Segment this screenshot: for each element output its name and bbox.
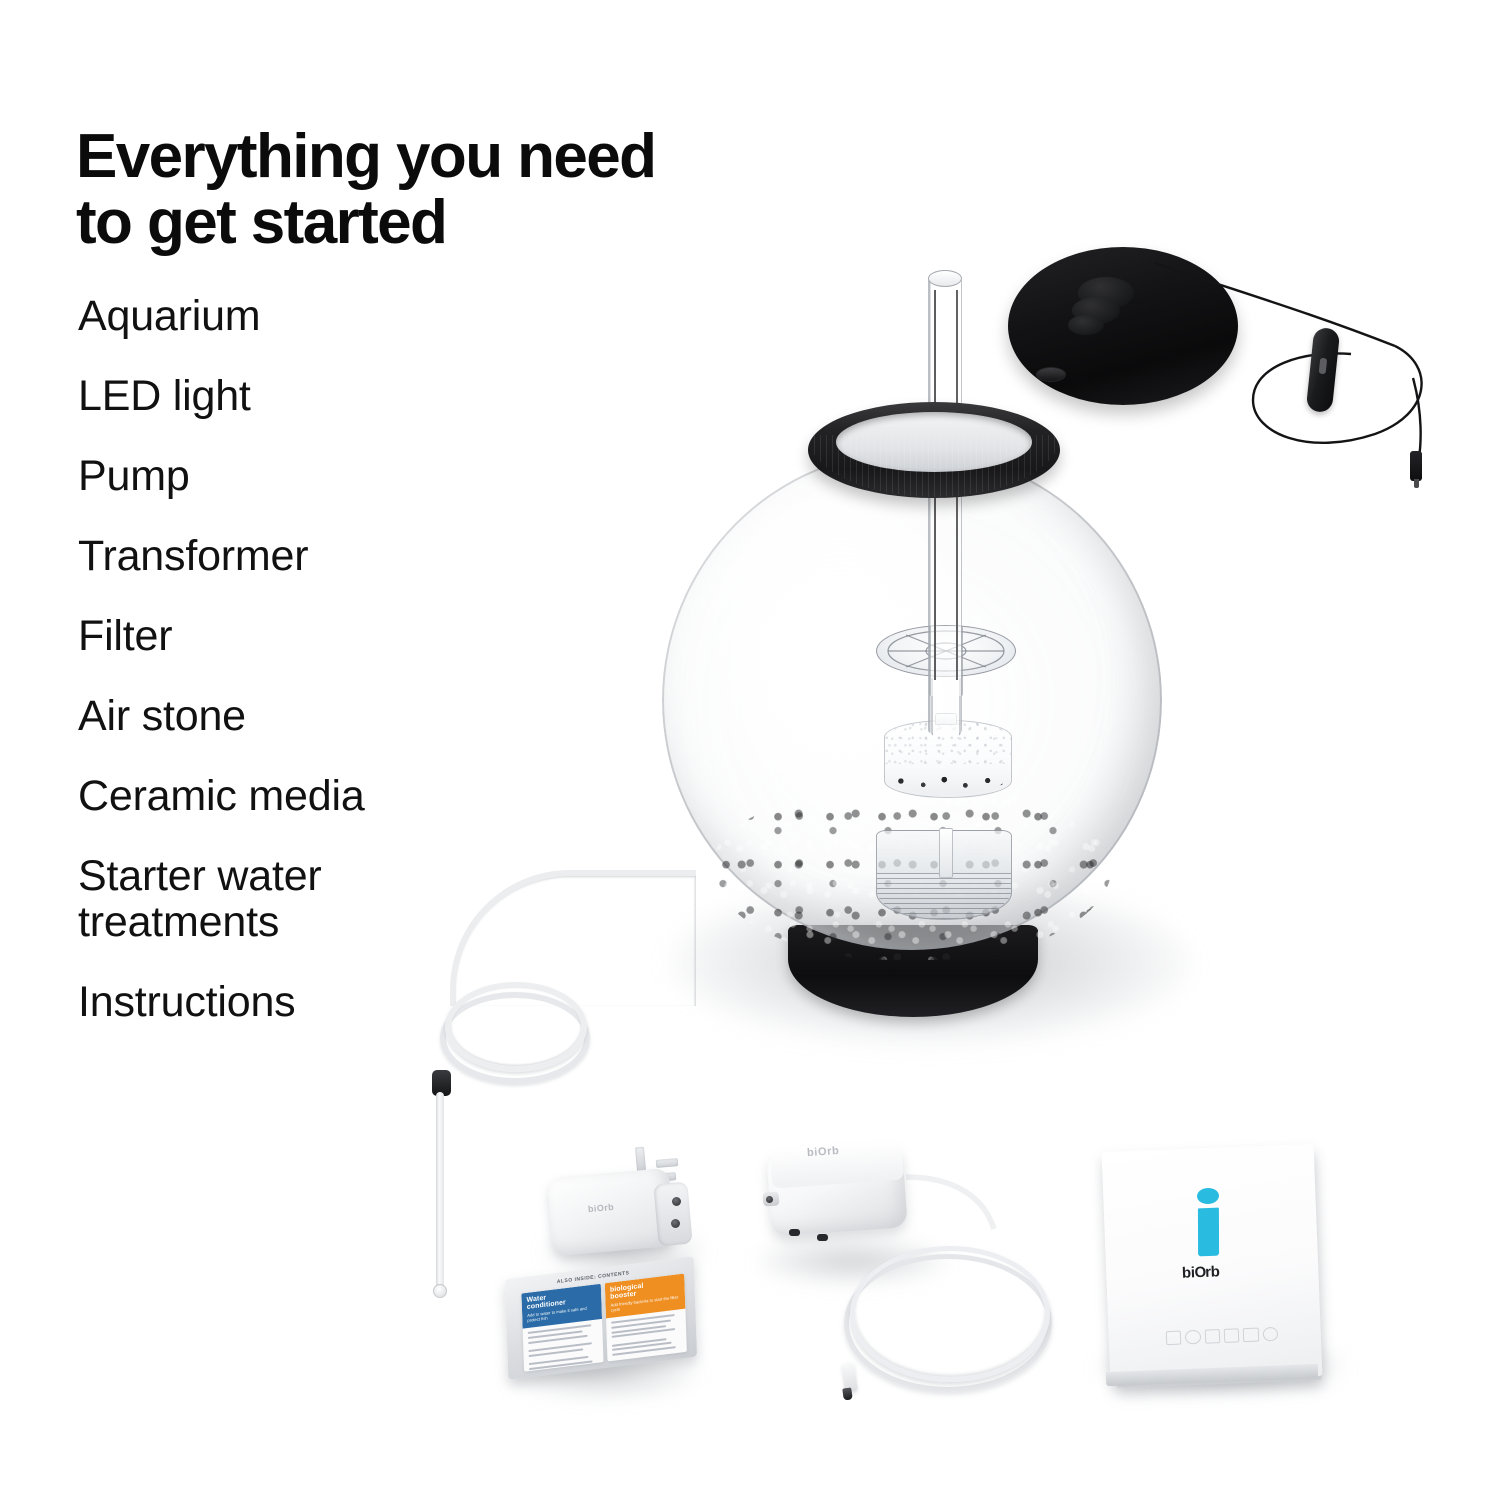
packet-panel-biological-booster: biological booster Add friendly bacteria… bbox=[605, 1274, 687, 1362]
list-item: Transformer bbox=[78, 533, 508, 579]
booklet-icon-filter bbox=[1204, 1329, 1220, 1344]
plug-pin-right bbox=[656, 1158, 679, 1168]
transformer-socket-face bbox=[653, 1182, 692, 1247]
bubble-tube-cap bbox=[928, 270, 962, 287]
packet-panel-water-conditioner: Water conditioner Add to water to make i… bbox=[521, 1284, 603, 1372]
air-stone-rod bbox=[436, 1092, 444, 1292]
biorb-wordmark: biOrb bbox=[1182, 1263, 1220, 1281]
led-cable-notch bbox=[1036, 367, 1066, 382]
led-plug-tip bbox=[1414, 479, 1419, 488]
list-item: Filter bbox=[78, 613, 508, 659]
list-item: Pump bbox=[78, 453, 508, 499]
list-item: Aquarium bbox=[78, 293, 508, 339]
transformer-socket-b bbox=[671, 1219, 680, 1228]
pump-stem bbox=[939, 828, 953, 878]
led-inline-switch[interactable] bbox=[1306, 327, 1341, 413]
pump-cable-coil-inner bbox=[850, 1246, 1050, 1382]
pump-power-jack-tip bbox=[842, 1387, 853, 1400]
bubble-tube bbox=[928, 278, 962, 733]
booklet-icon-light bbox=[1224, 1328, 1240, 1343]
air-tubing-coil-inner bbox=[445, 982, 587, 1072]
led-light-assembly bbox=[1000, 235, 1470, 525]
air-pump-nozzle-hole bbox=[766, 1196, 773, 1203]
list-item: Air stone bbox=[78, 693, 508, 739]
list-item: Ceramic media bbox=[78, 773, 508, 819]
transformer-socket-a bbox=[672, 1197, 681, 1206]
air-pump-foot-left bbox=[789, 1229, 800, 1236]
led-plug-connector bbox=[1410, 451, 1422, 481]
led-bump-small bbox=[1068, 315, 1104, 335]
air-pump-brand-label: biOrb bbox=[807, 1145, 840, 1159]
packet-card: ALSO INSIDE: CONTENTS Water conditioner … bbox=[505, 1256, 697, 1379]
air-pump-foot-right bbox=[817, 1234, 828, 1241]
list-item: LED light bbox=[78, 373, 508, 419]
booklet-icon-circle bbox=[1185, 1330, 1201, 1345]
biorb-i-stem-icon bbox=[1198, 1208, 1219, 1257]
air-stone-tip bbox=[433, 1284, 447, 1298]
booklet-icon-care bbox=[1262, 1327, 1278, 1342]
led-light-disc bbox=[1008, 247, 1238, 405]
air-pump-assembly: biOrb bbox=[755, 1130, 1055, 1420]
plug-pin-top bbox=[635, 1147, 646, 1172]
pump-grate bbox=[877, 873, 1011, 919]
instruction-booklet: biOrb bbox=[1090, 1140, 1360, 1410]
booklet-icon-water bbox=[1243, 1328, 1259, 1343]
water-treatment-packet: ALSO INSIDE: CONTENTS Water conditioner … bbox=[500, 1262, 710, 1422]
booklet-icon-fish bbox=[1166, 1331, 1182, 1346]
product-infographic: Everything you need to get started Aquar… bbox=[0, 0, 1500, 1500]
packet-body-lines-left bbox=[523, 1319, 604, 1372]
led-switch-toggle[interactable] bbox=[1319, 358, 1328, 375]
